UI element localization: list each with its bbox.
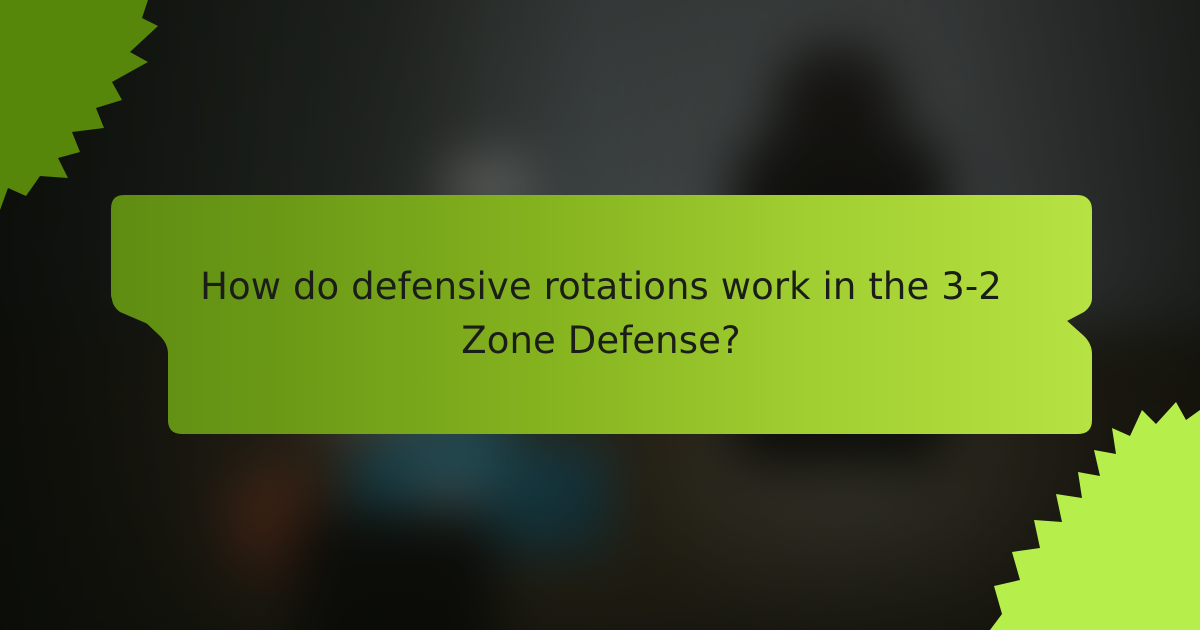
title-banner: How do defensive rotations work in the 3… <box>110 194 1092 434</box>
share-card: How do defensive rotations work in the 3… <box>0 0 1200 630</box>
banner-title: How do defensive rotations work in the 3… <box>180 194 1022 434</box>
